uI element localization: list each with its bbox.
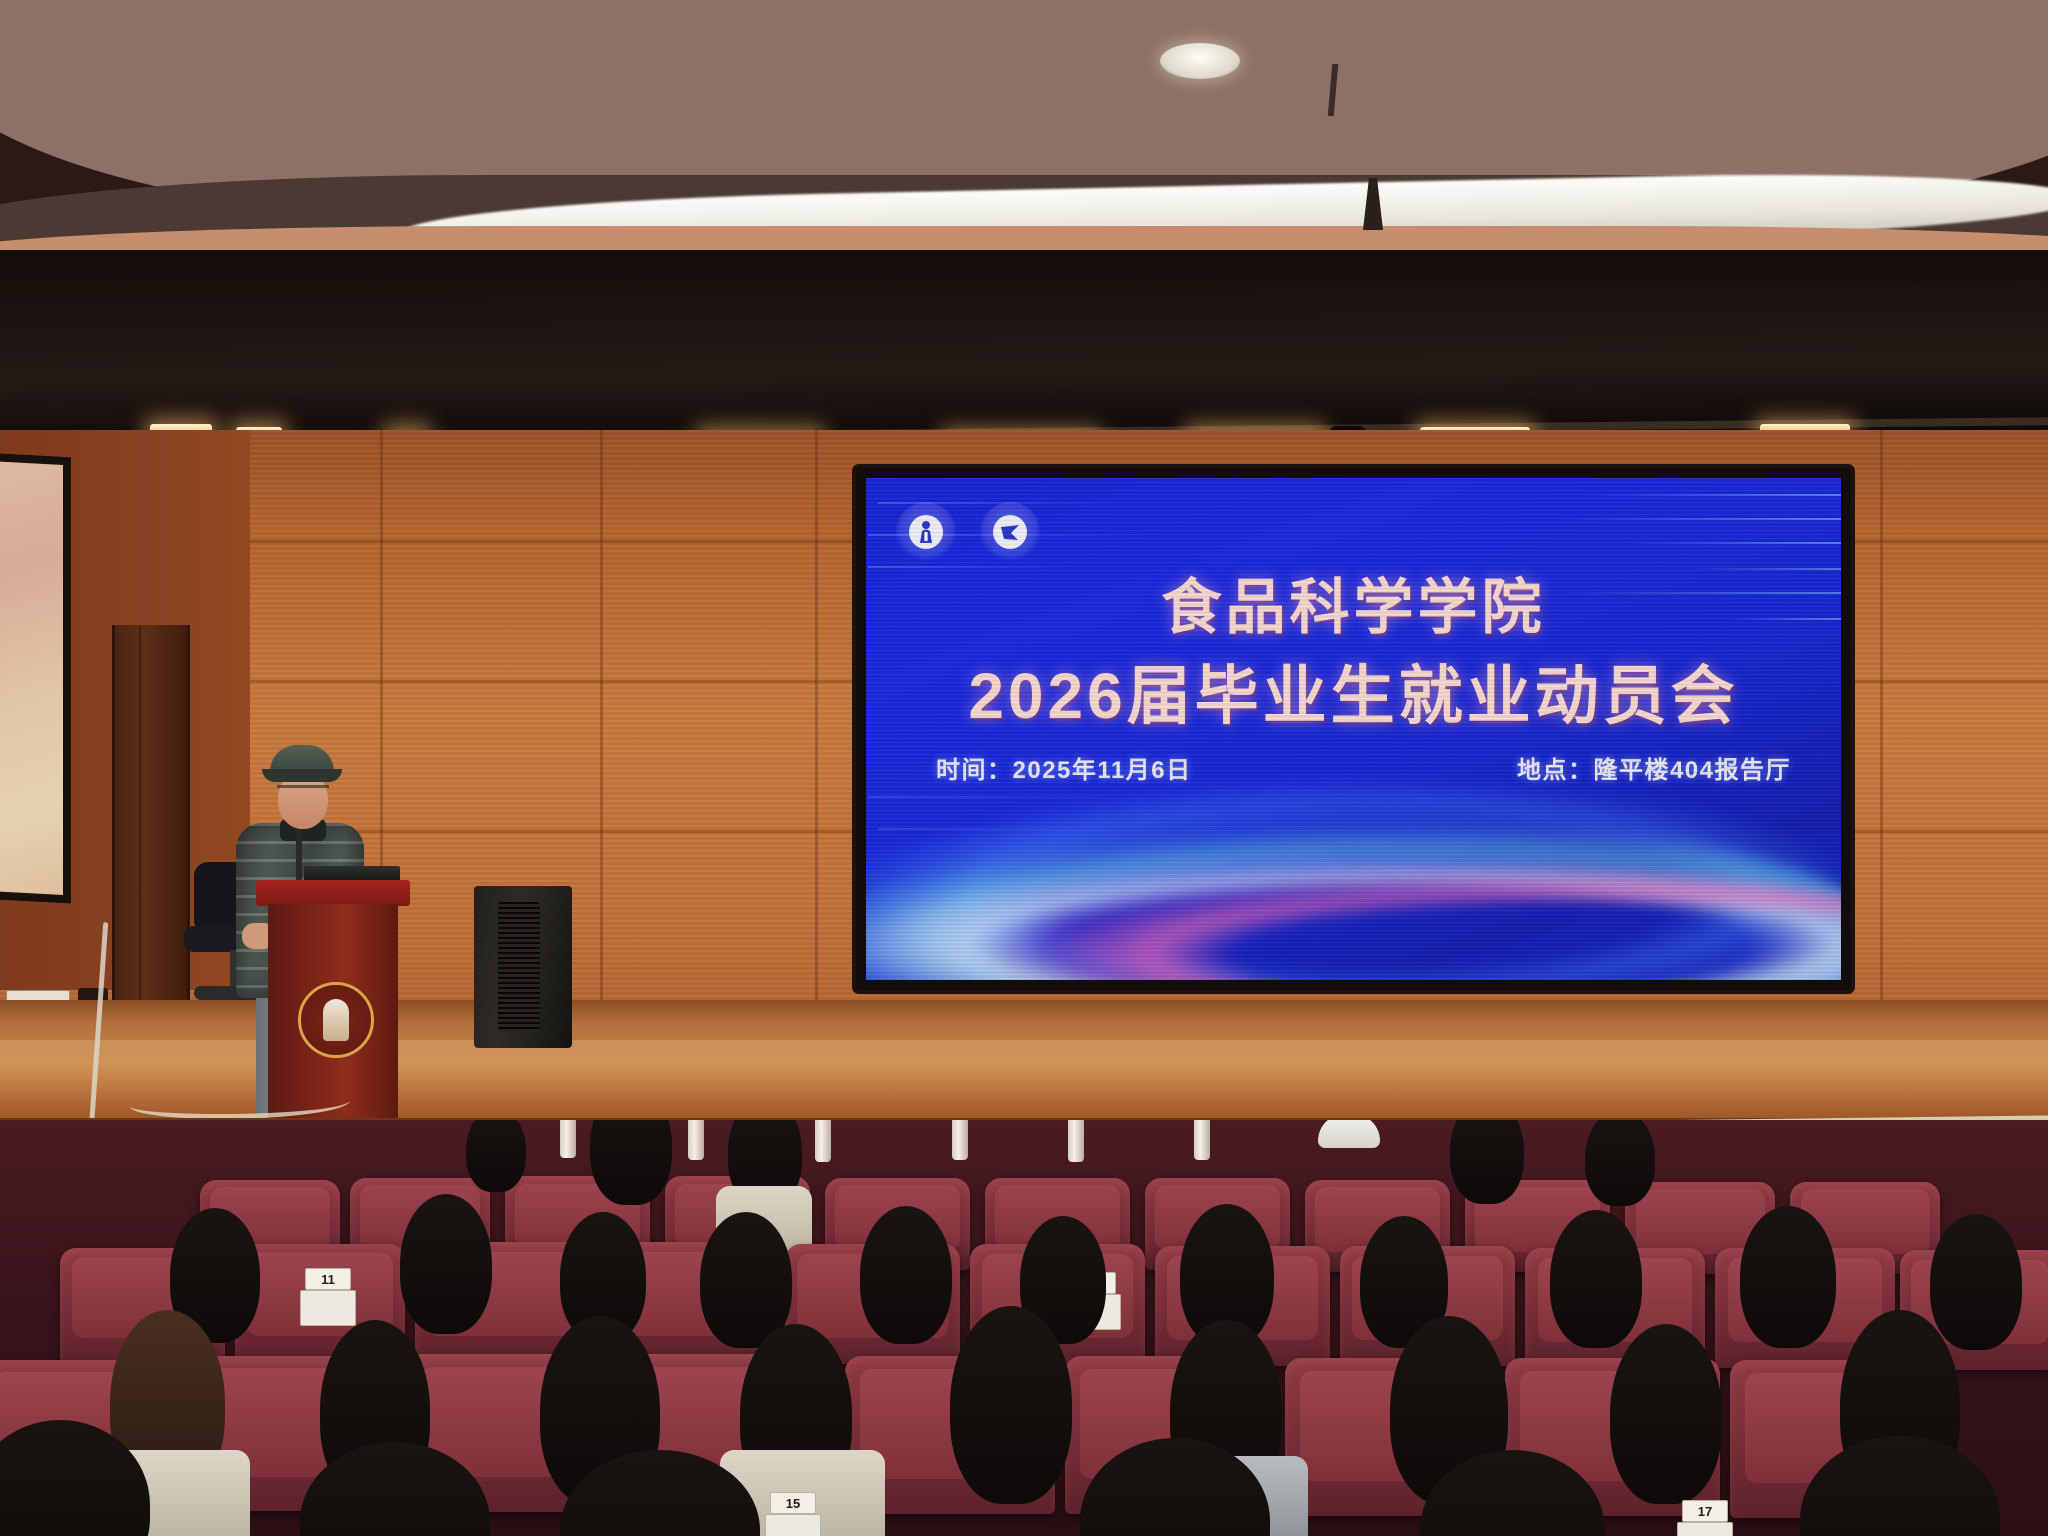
audience-head [1740,1206,1836,1348]
audience-area: 11 13 14 14 [0,1120,2048,1536]
audience-head [466,1120,526,1192]
audience-head [1585,1120,1655,1206]
wall-seam [1880,430,1883,1070]
university-seal-logo [896,502,956,562]
university-crest-icon [298,982,374,1058]
seal-figure-icon [915,520,937,544]
screen-title-line-2: 2026届毕业生就业动员会 [866,655,1841,738]
water-bottle [1068,1120,1084,1162]
audience-head [1610,1324,1722,1504]
speaker-grill [498,902,540,1032]
framed-wall-panel [0,453,71,904]
audience-head [400,1194,492,1334]
audience-head [950,1306,1072,1504]
wall-seam [815,430,818,1070]
water-bottle [688,1120,704,1160]
light-trail-graphic [866,750,1841,980]
seat-info-plate [765,1514,821,1536]
audience-head [590,1120,672,1205]
screen-title-block: 食品科学学院 2026届毕业生就业动员会 [866,570,1841,738]
water-bottle [815,1120,831,1162]
emblem-chevron-icon [998,520,1022,544]
pa-speaker-cabinet [474,886,572,1048]
logo-row [896,502,1040,562]
audience-head [1550,1210,1642,1348]
seat-number-plate: 11 [305,1268,351,1290]
water-bottle [1194,1120,1210,1160]
seat-number-plate: 15 [770,1492,816,1514]
seat-info-plate [300,1290,356,1326]
cap-brim [262,769,342,782]
college-emblem-core [993,515,1027,549]
panel-surface [0,461,63,895]
screen-title-line-1: 食品科学学院 [866,570,1841,645]
glasses-icon [277,785,329,799]
lectern-top [256,880,410,906]
audience-head [860,1206,952,1344]
side-door[interactable] [112,625,190,1030]
college-emblem-logo [980,502,1040,562]
door-seam [139,625,141,1030]
auditorium-photo: 食品科学学院 2026届毕业生就业动员会 时间：2025年11月6日 地点：隆平… [0,0,2048,1536]
university-seal-core [909,515,943,549]
seat-info-plate [1677,1522,1733,1536]
audience-head [1450,1120,1524,1204]
water-bottle [952,1120,968,1160]
white-cap [1318,1120,1380,1148]
wall-seam [600,430,603,1070]
seat-number-plate: 17 [1682,1500,1728,1522]
dome-lamp-icon [1160,43,1240,79]
wooden-lectern [268,880,398,1120]
water-bottle [560,1120,576,1158]
led-screen[interactable]: 食品科学学院 2026届毕业生就业动员会 时间：2025年11月6日 地点：隆平… [866,478,1841,980]
audience-head [1930,1214,2022,1350]
